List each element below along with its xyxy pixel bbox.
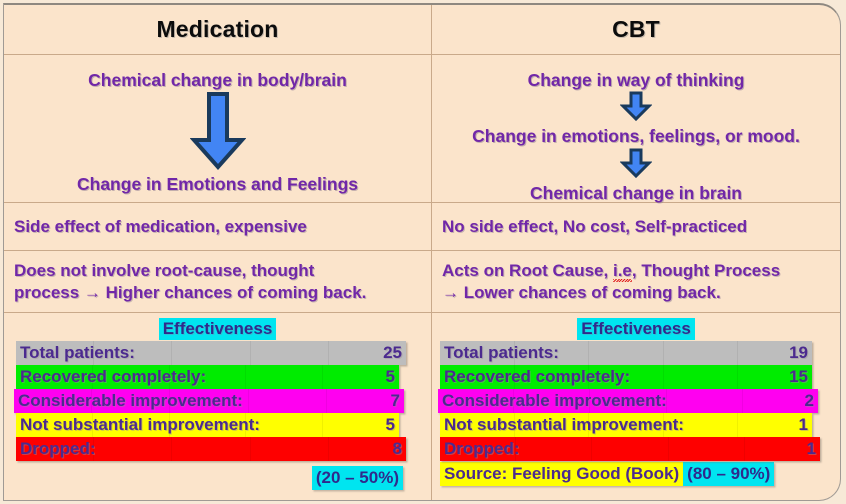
- table-row: Total patients: 25: [16, 341, 406, 365]
- bars-cbt: Total patients: 19 Recovered completely:…: [432, 341, 840, 461]
- effectiveness-cell-cbt: Effectiveness Total patients: 19 Recover…: [432, 313, 840, 500]
- bar-value: 5: [386, 367, 399, 387]
- bar-value: 1: [807, 439, 820, 459]
- effectiveness-title-line-medication: Effectiveness: [4, 317, 431, 341]
- effectiveness-footer-cbt: Source: Feeling Good (Book) (80 – 90%): [440, 461, 840, 487]
- cbt-flow-line-3: Chemical change in brain: [530, 184, 742, 203]
- side-effects-cell-medication: Side effect of medication, expensive: [4, 203, 432, 250]
- effectiveness-title-cbt: Effectiveness: [577, 318, 695, 340]
- bar-label: Recovered completely:: [16, 367, 206, 387]
- down-arrow-small-icon-1: [620, 91, 652, 126]
- effectiveness-percentage-cbt: (80 – 90%): [683, 462, 774, 486]
- bar-label: Dropped:: [16, 439, 96, 459]
- down-arrow-large-icon: [190, 92, 246, 175]
- effectiveness-percentage-medication: (20 – 50%): [312, 466, 403, 490]
- table-row: Not substantial improvement: 5: [16, 413, 399, 437]
- table-header-row: Medication CBT: [4, 5, 840, 55]
- table-row: Considerable improvement: 2: [438, 389, 818, 413]
- flow-cell-cbt: Change in way of thinking Change in emot…: [432, 55, 840, 202]
- bar-label: Considerable improvement:: [438, 391, 667, 411]
- bar-label: Considerable improvement:: [14, 391, 243, 411]
- column-header-cbt: CBT: [612, 16, 660, 43]
- root-cause-cbt-line-2: → Lower chances of coming back.: [442, 283, 721, 302]
- bar-label: Total patients:: [440, 343, 559, 363]
- header-cell-cbt: CBT: [432, 5, 840, 54]
- bar-label: Recovered completely:: [440, 367, 630, 387]
- table-row: Dropped: 1: [440, 437, 820, 461]
- effectiveness-source-cbt: Source: Feeling Good (Book): [440, 462, 683, 486]
- side-effects-row: Side effect of medication, expensive No …: [4, 203, 840, 251]
- table-row: Recovered completely: 15: [440, 365, 812, 389]
- side-effects-cell-cbt: No side effect, No cost, Self-practiced: [432, 203, 840, 250]
- root-cause-cell-medication: Does not involve root-cause, thought pro…: [4, 251, 432, 312]
- root-cause-medication-line-1: Does not involve root-cause, thought: [14, 261, 314, 280]
- root-cause-medication-line-2: process → Higher chances of coming back.: [14, 283, 366, 302]
- root-cause-cbt-text: Acts on Root Cause, i.e, Thought Process…: [442, 260, 780, 303]
- effectiveness-chart-medication: Effectiveness Total patients: 25 Recover…: [4, 317, 431, 491]
- table-row: Recovered completely: 5: [16, 365, 399, 389]
- effectiveness-chart-cbt: Effectiveness Total patients: 19 Recover…: [432, 317, 840, 487]
- flow-cell-medication: Chemical change in body/brain Change in …: [4, 55, 432, 202]
- bar-value: 19: [789, 343, 812, 363]
- effectiveness-footer-medication: (20 – 50%): [4, 461, 431, 491]
- root-cause-cbt-line-1c: , Thought Process: [632, 261, 780, 280]
- bar-label: Total patients:: [16, 343, 135, 363]
- table-row: Dropped: 8: [16, 437, 406, 461]
- effectiveness-cell-medication: Effectiveness Total patients: 25 Recover…: [4, 313, 432, 500]
- table-row: Not substantial improvement: 1: [440, 413, 812, 437]
- bar-value: 25: [383, 343, 406, 363]
- effectiveness-row: Effectiveness Total patients: 25 Recover…: [4, 313, 840, 500]
- medication-flow-bottom: Change in Emotions and Feelings: [4, 175, 431, 194]
- bar-value: 5: [386, 415, 399, 435]
- table-row: Considerable improvement: 7: [14, 389, 404, 413]
- bar-value: 8: [393, 439, 406, 459]
- bar-value: 2: [805, 391, 818, 411]
- spellcheck-underlined-word: i.e: [613, 261, 632, 280]
- root-cause-medication-text: Does not involve root-cause, thought pro…: [14, 260, 366, 303]
- column-header-medication: Medication: [156, 16, 278, 43]
- cbt-flow-line-2: Change in emotions, feelings, or mood.: [472, 127, 800, 146]
- cbt-flow-line-1: Change in way of thinking: [528, 71, 745, 90]
- slide-canvas: Medication CBT Chemical change in body/b…: [0, 0, 846, 504]
- table-row: Total patients: 19: [440, 341, 812, 365]
- bar-label: Not substantial improvement:: [16, 415, 260, 435]
- medication-flow-top: Chemical change in body/brain: [88, 71, 347, 90]
- comparison-table: Medication CBT Chemical change in body/b…: [3, 3, 841, 501]
- bar-value: 7: [391, 391, 404, 411]
- bar-value: 1: [799, 415, 812, 435]
- root-cause-cell-cbt: Acts on Root Cause, i.e, Thought Process…: [432, 251, 840, 312]
- root-cause-cbt-line-1a: Acts on Root Cause,: [442, 261, 613, 280]
- effectiveness-title-line-cbt: Effectiveness: [432, 317, 840, 341]
- down-arrow-small-icon-2: [620, 148, 652, 183]
- bar-label: Not substantial improvement:: [440, 415, 684, 435]
- root-cause-row: Does not involve root-cause, thought pro…: [4, 251, 840, 313]
- effectiveness-title-medication: Effectiveness: [159, 318, 277, 340]
- header-cell-medication: Medication: [4, 5, 432, 54]
- bar-value: 15: [789, 367, 812, 387]
- bars-medication: Total patients: 25 Recovered completely:…: [4, 341, 431, 461]
- bar-label: Dropped:: [440, 439, 520, 459]
- side-effects-cbt-text: No side effect, No cost, Self-practiced: [442, 216, 747, 237]
- mechanism-flow-row: Chemical change in body/brain Change in …: [4, 55, 840, 203]
- side-effects-medication-text: Side effect of medication, expensive: [14, 216, 307, 237]
